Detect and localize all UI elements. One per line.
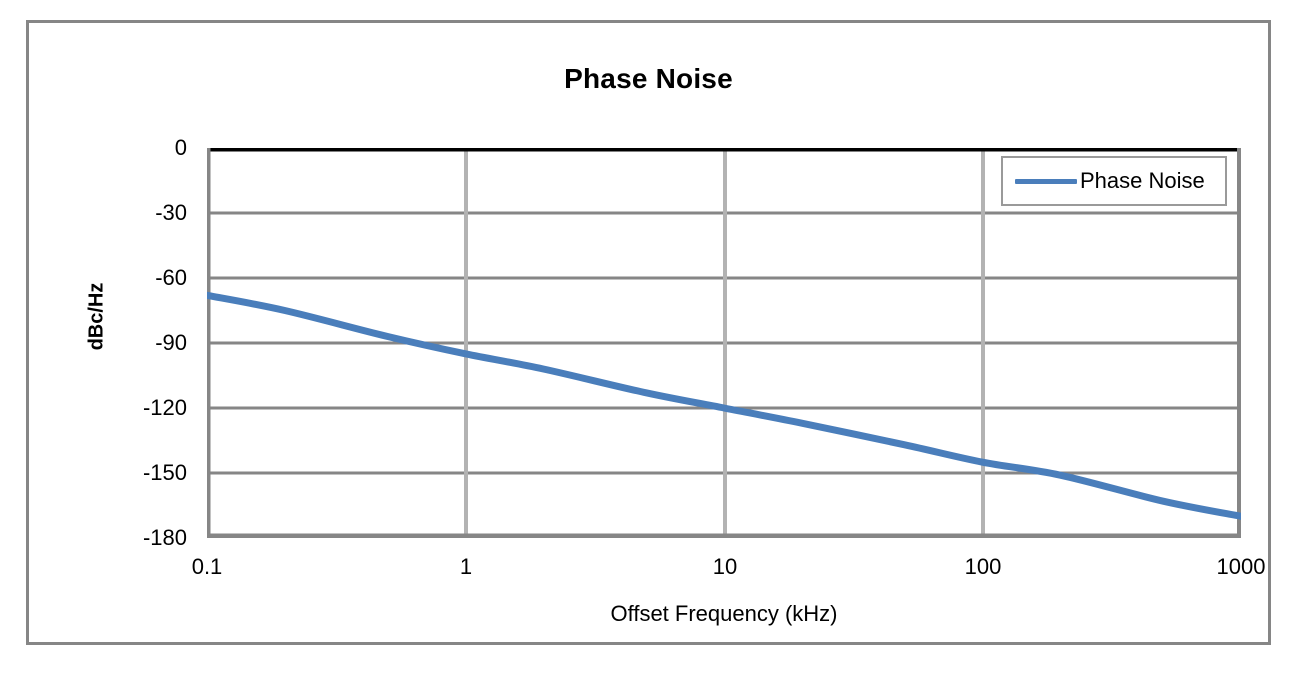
plot-area (207, 148, 1241, 538)
x-tick-label-0-1: 0.1 (192, 556, 223, 578)
x-tick-label-100: 100 (965, 556, 1002, 578)
chart-legend[interactable]: Phase Noise (1001, 156, 1227, 206)
legend-line-swatch (1015, 179, 1077, 184)
x-tick-label-1: 1 (460, 556, 472, 578)
x-tick-label-1000: 1000 (1217, 556, 1266, 578)
chart-frame: Phase Noise dBc/Hz 0 -30 -60 -90 -120 -1… (26, 20, 1271, 645)
y-tick-label-90: -90 (67, 332, 187, 354)
x-axis-tick-labels: 0.1 1 10 100 1000 (29, 556, 1304, 586)
y-tick-label-180: -180 (67, 527, 187, 549)
y-tick-label-0: 0 (67, 137, 187, 159)
y-tick-label-60: -60 (67, 267, 187, 289)
y-tick-label-120: -120 (67, 397, 187, 419)
y-tick-label-30: -30 (67, 202, 187, 224)
x-tick-label-10: 10 (713, 556, 737, 578)
y-tick-label-150: -150 (67, 462, 187, 484)
plot-svg (207, 148, 1241, 538)
y-axis-tick-labels: 0 -30 -60 -90 -120 -150 -180 (57, 23, 187, 700)
x-axis-title: Offset Frequency (kHz) (207, 601, 1241, 627)
legend-label-phase-noise: Phase Noise (1080, 168, 1205, 194)
chart-title: Phase Noise (29, 63, 1268, 95)
